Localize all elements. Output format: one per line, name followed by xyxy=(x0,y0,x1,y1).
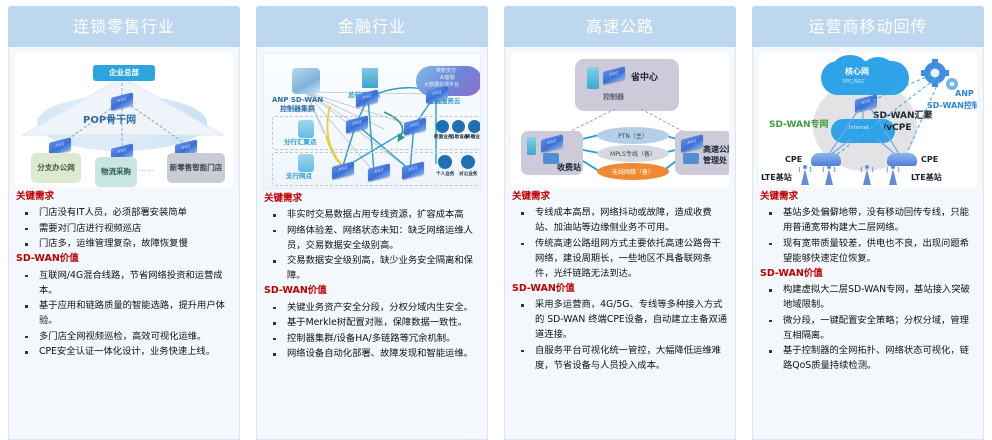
list-item: 基于控制器的全网拓扑、网络状态可视化，链路QoS质量持续检测。 xyxy=(760,343,976,373)
logistics-node: 物流采购 xyxy=(95,157,137,187)
branch-node: 分支办公网 xyxy=(31,153,81,183)
scenario-column-retail: 连锁零售行业 企业总部 POP骨干网 分支办 xyxy=(0,0,248,440)
retail-sdwan-topology: 企业总部 POP骨干网 分支办公网 物流采购 …… 新零售智能门店 xyxy=(15,53,233,187)
values-list: 采用多运营商，4G/5G、专线等多种接入方式的 SD-WAN 终端CPE设备，自… xyxy=(512,297,728,373)
column-title-highway: 高速公路 xyxy=(504,6,736,47)
highway-admin-label-1: 高速公路 xyxy=(703,145,729,154)
values-heading: SD-WAN价值 xyxy=(264,284,480,298)
values-list: 构建虚拟大二层SD-WAN专网，基站接入突破地域限制。 微分段，一键配置安全策略… xyxy=(760,282,976,373)
link-wireless: 无线网络（备） xyxy=(597,163,669,180)
list-item: 网络设备自动化部署、故障发现和智能运维。 xyxy=(264,346,480,361)
service-icon-5 xyxy=(461,155,475,169)
subbranch-icon xyxy=(298,154,314,172)
list-item: 网络体验差、网络状态未知：缺乏网络运维人员，交易数据安全级别高。 xyxy=(264,223,480,253)
requirements-heading: 关键需求 xyxy=(512,190,728,204)
service-icon-1 xyxy=(436,120,449,133)
list-item: 采用多运营商，4G/5G、专线等多种接入方式的 SD-WAN 终端CPE设备，自… xyxy=(512,297,728,342)
column-panel-highway: 省中心 控制器 收费站 PTN（主） xyxy=(504,47,736,440)
cpe-right-label: CPE xyxy=(921,155,938,164)
requirements-list: 非实时交易数据占用专线资源，扩容成本高 网络体验差、网络状态未知：缺乏网络运维人… xyxy=(264,207,480,283)
toll-server-icon xyxy=(527,137,536,155)
cloud-service-2: AI客服 xyxy=(440,76,455,82)
column-title-finance: 金融行业 xyxy=(256,6,488,47)
ellipsis-label: …… xyxy=(139,165,155,173)
list-item: 门店没有IT人员，必须部署安装简单 xyxy=(16,205,232,220)
hq-node: 企业总部 xyxy=(93,65,155,81)
list-item: 门店多，运维管理复杂，故障恢复慢 xyxy=(16,236,232,251)
admin-pc-icon xyxy=(683,153,699,164)
link-mpls: MPLS专线（备） xyxy=(597,145,669,162)
list-item: 传统高速公路组网方式主要依托高速公路骨干网络，建设周期长，一些地区不具备联网条件… xyxy=(512,236,728,281)
lte-left-label: LTE基站 xyxy=(761,173,792,182)
finance-text-block: 关键需求 非实时交易数据占用专线资源，扩容成本高 网络体验差、网络状态未知：缺乏… xyxy=(263,191,481,439)
requirements-heading: 关键需求 xyxy=(16,190,232,204)
column-panel-carrier: 核心网 EPC/5GC Internet ANP SD-WAN控制器 xyxy=(752,47,984,440)
list-item: 构建虚拟大二层SD-WAN专网，基站接入突破地域限制。 xyxy=(760,282,976,312)
backbone-label: POP骨干网 xyxy=(83,115,136,127)
column-panel-finance: ANP SD-WAN 控制器集群 总行汇聚点 数权支付 AI客服 大数据处理平台… xyxy=(256,47,488,440)
column-panel-retail: 企业总部 POP骨干网 分支办公网 物流采购 …… 新零售智能门店 关键需求 xyxy=(8,47,240,440)
branch-agg-icon xyxy=(298,120,314,138)
carrier-mobile-backhaul-topology: 核心网 EPC/5GC Internet ANP SD-WAN控制器 xyxy=(759,53,977,187)
values-heading: SD-WAN价值 xyxy=(760,267,976,281)
branch-agg-label: 分行汇聚点 xyxy=(284,139,317,146)
list-item: CPE安全认证一体化设计，业务快速上线。 xyxy=(16,344,232,359)
carrier-text-block: 关键需求 基站多处偏僻地带，没有移动回传专线，只能用普通宽带构建大二层网络。 现… xyxy=(759,189,977,439)
scenario-column-carrier: 运营商移动回传 核心网 EPC/5GC Internet xyxy=(744,0,992,440)
list-item: 多门店全网视频巡检，高效可视化运维。 xyxy=(16,329,232,344)
controller-cluster-icon xyxy=(292,68,320,94)
requirements-heading: 关键需求 xyxy=(760,190,976,204)
list-item: 自服务平台可视化统一管控，大幅降低运维难度，节省设备与人员投入成本。 xyxy=(512,343,728,373)
highway-admin-label-2: 管理处 xyxy=(703,156,727,165)
toll-station-label: 收费站 xyxy=(557,163,581,172)
service-label-3: 终端业务 xyxy=(466,135,481,140)
scenario-column-finance: 金融行业 xyxy=(248,0,496,440)
hq-building-icon xyxy=(362,68,378,88)
finance-sdwan-topology: ANP SD-WAN 控制器集群 总行汇聚点 数权支付 AI客服 大数据处理平台… xyxy=(263,53,481,189)
service-label-4: 个人业务 xyxy=(436,172,454,177)
service-icon-4 xyxy=(438,155,452,169)
column-title-retail: 连锁零售行业 xyxy=(8,6,240,47)
list-item: 控制器集群/设备HA/多链路等冗余机制。 xyxy=(264,331,480,346)
list-item: 基站多处偏僻地带，没有移动回传专线，只能用普通宽带构建大二层网络。 xyxy=(760,205,976,235)
cloud-service-1: 数权支付 xyxy=(436,69,456,75)
cpe-left-label: CPE xyxy=(785,155,802,164)
lte-right-label: LTE基站 xyxy=(911,173,942,182)
list-item: 交易数据安全级别高，缺少业务安全隔离和保障。 xyxy=(264,253,480,283)
controller-label-2: 控制器集群 xyxy=(280,105,315,113)
controller-label: ANP SD-WAN xyxy=(272,96,323,104)
service-icon-2 xyxy=(452,120,465,133)
store-node: 新零售智能门店 xyxy=(167,153,225,183)
list-item: 基于Merkle树配置对账，保障数据一致性。 xyxy=(264,315,480,330)
scenario-board: 连锁零售行业 企业总部 POP骨干网 分支办 xyxy=(0,0,992,440)
service-label-5: 对公业务 xyxy=(459,172,477,177)
list-item: 非实时交易数据占用专线资源，扩容成本高 xyxy=(264,207,480,222)
scenario-column-highway: 高速公路 省中心 控制器 xyxy=(496,0,744,440)
column-title-carrier: 运营商移动回传 xyxy=(752,6,984,47)
list-item: 专线成本高昂，网络抖动或故障，造成收费站、加油站等边缘侧业务不可用。 xyxy=(512,205,728,235)
requirements-heading: 关键需求 xyxy=(264,192,480,206)
subbranch-label: 支行网点 xyxy=(286,173,312,180)
highway-sdwan-topology: 省中心 控制器 收费站 PTN（主） xyxy=(511,53,729,187)
values-heading: SD-WAN价值 xyxy=(512,282,728,296)
service-icon-3 xyxy=(468,120,481,133)
retail-text-block: 关键需求 门店没有IT人员，必须部署安装简单 需要对门店进行视频巡店 门店多，运… xyxy=(15,189,233,439)
link-ptn: PTN（主） xyxy=(597,127,669,144)
list-item: 需要对门店进行视频巡店 xyxy=(16,221,232,236)
values-list: 关键业务资产安全分段，分权分域内生安全。 基于Merkle树配置对账，保障数据一… xyxy=(264,300,480,362)
requirements-list: 专线成本高昂，网络抖动或故障，造成收费站、加油站等边缘侧业务不可用。 传统高速公… xyxy=(512,205,728,281)
list-item: 互联网/4G混合线路，节省网络投资和运营成本。 xyxy=(16,268,232,298)
requirements-list: 门店没有IT人员，必须部署安装简单 需要对门店进行视频巡店 门店多，运维管理复杂… xyxy=(16,205,232,251)
requirements-list: 基站多处偏僻地带，没有移动回传专线，只能用普通宽带构建大二层网络。 现有宽带质量… xyxy=(760,205,976,266)
values-heading: SD-WAN价值 xyxy=(16,252,232,266)
list-item: 现有宽带质量较差，供电也不良，出现问题希望能够快速定位恢复。 xyxy=(760,236,976,266)
list-item: 基于应用和链路质量的智能选路，提升用户体验。 xyxy=(16,298,232,328)
list-item: 微分段，一键配置安全策略；分权分域，管理互相隔离。 xyxy=(760,313,976,343)
values-list: 互联网/4G混合线路，节省网络投资和运营成本。 基于应用和链路质量的智能选路，提… xyxy=(16,268,232,360)
highway-text-block: 关键需求 专线成本高昂，网络抖动或故障，造成收费站、加油站等边缘侧业务不可用。 … xyxy=(511,189,729,439)
list-item: 关键业务资产安全分段，分权分域内生安全。 xyxy=(264,300,480,315)
